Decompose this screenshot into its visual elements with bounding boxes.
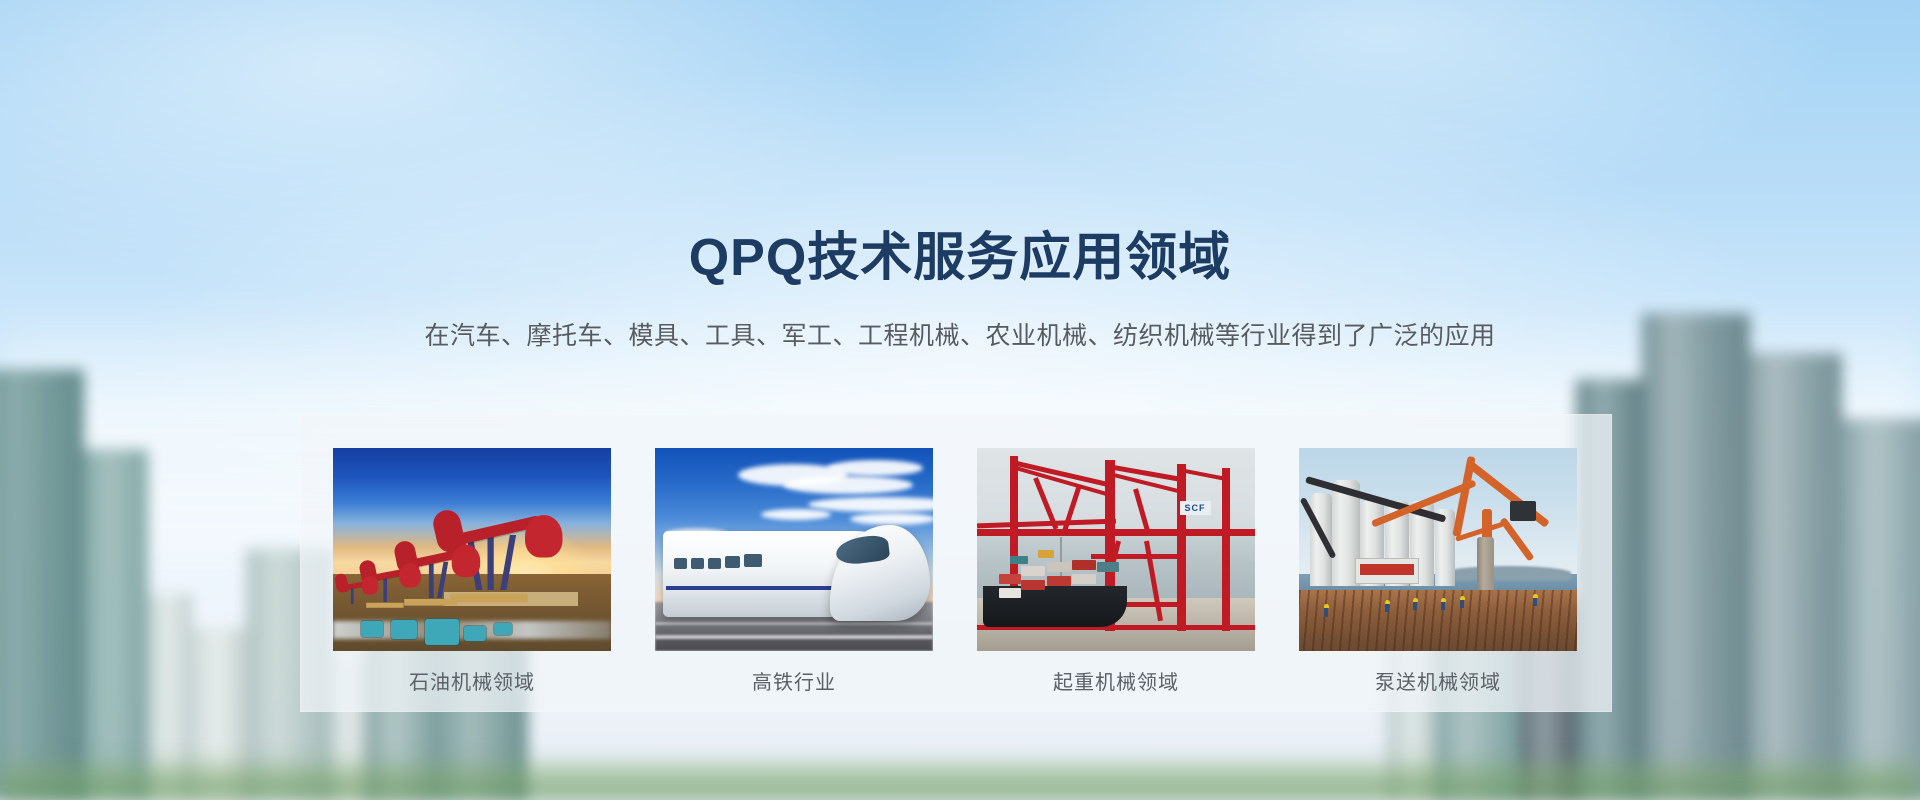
concrete-pump-photo[interactable] xyxy=(1299,448,1577,651)
card-oil-machinery[interactable]: 石油机械领域 xyxy=(333,448,611,693)
card-label: 泵送机械领域 xyxy=(1299,673,1577,693)
card-high-speed-rail[interactable]: 高铁行业 xyxy=(655,448,933,693)
high-speed-train-photo[interactable] xyxy=(655,448,933,651)
port-gantry-crane-photo[interactable]: SCF xyxy=(977,448,1255,651)
building xyxy=(0,370,84,800)
building xyxy=(1838,420,1920,800)
card-label: 高铁行业 xyxy=(655,673,933,693)
photo-crane: SCF xyxy=(977,448,1255,651)
building xyxy=(1642,314,1750,800)
card-label: 起重机械领域 xyxy=(977,673,1255,693)
page-title: QPQ技术服务应用领域 xyxy=(0,232,1920,284)
crane-scf-label: SCF xyxy=(1180,501,1211,515)
background-ground xyxy=(0,754,1920,800)
photo-pump xyxy=(1299,448,1577,651)
card-lifting-machinery[interactable]: SCF 起重机械领域 xyxy=(977,448,1255,693)
card-pumping-machinery[interactable]: 泵送机械领域 xyxy=(1299,448,1577,693)
building xyxy=(1746,354,1842,800)
application-fields-panel: 石油机械领域 xyxy=(300,414,1612,712)
page-subtitle: 在汽车、摩托车、模具、工具、军工、工程机械、农业机械、纺织机械等行业得到了广泛的… xyxy=(0,324,1920,349)
building xyxy=(84,450,148,800)
oil-pumpjacks-photo[interactable] xyxy=(333,448,611,651)
photo-oil xyxy=(333,448,611,651)
card-label: 石油机械领域 xyxy=(333,673,611,693)
photo-train xyxy=(655,448,933,651)
application-cards-row: 石油机械领域 xyxy=(333,448,1577,693)
